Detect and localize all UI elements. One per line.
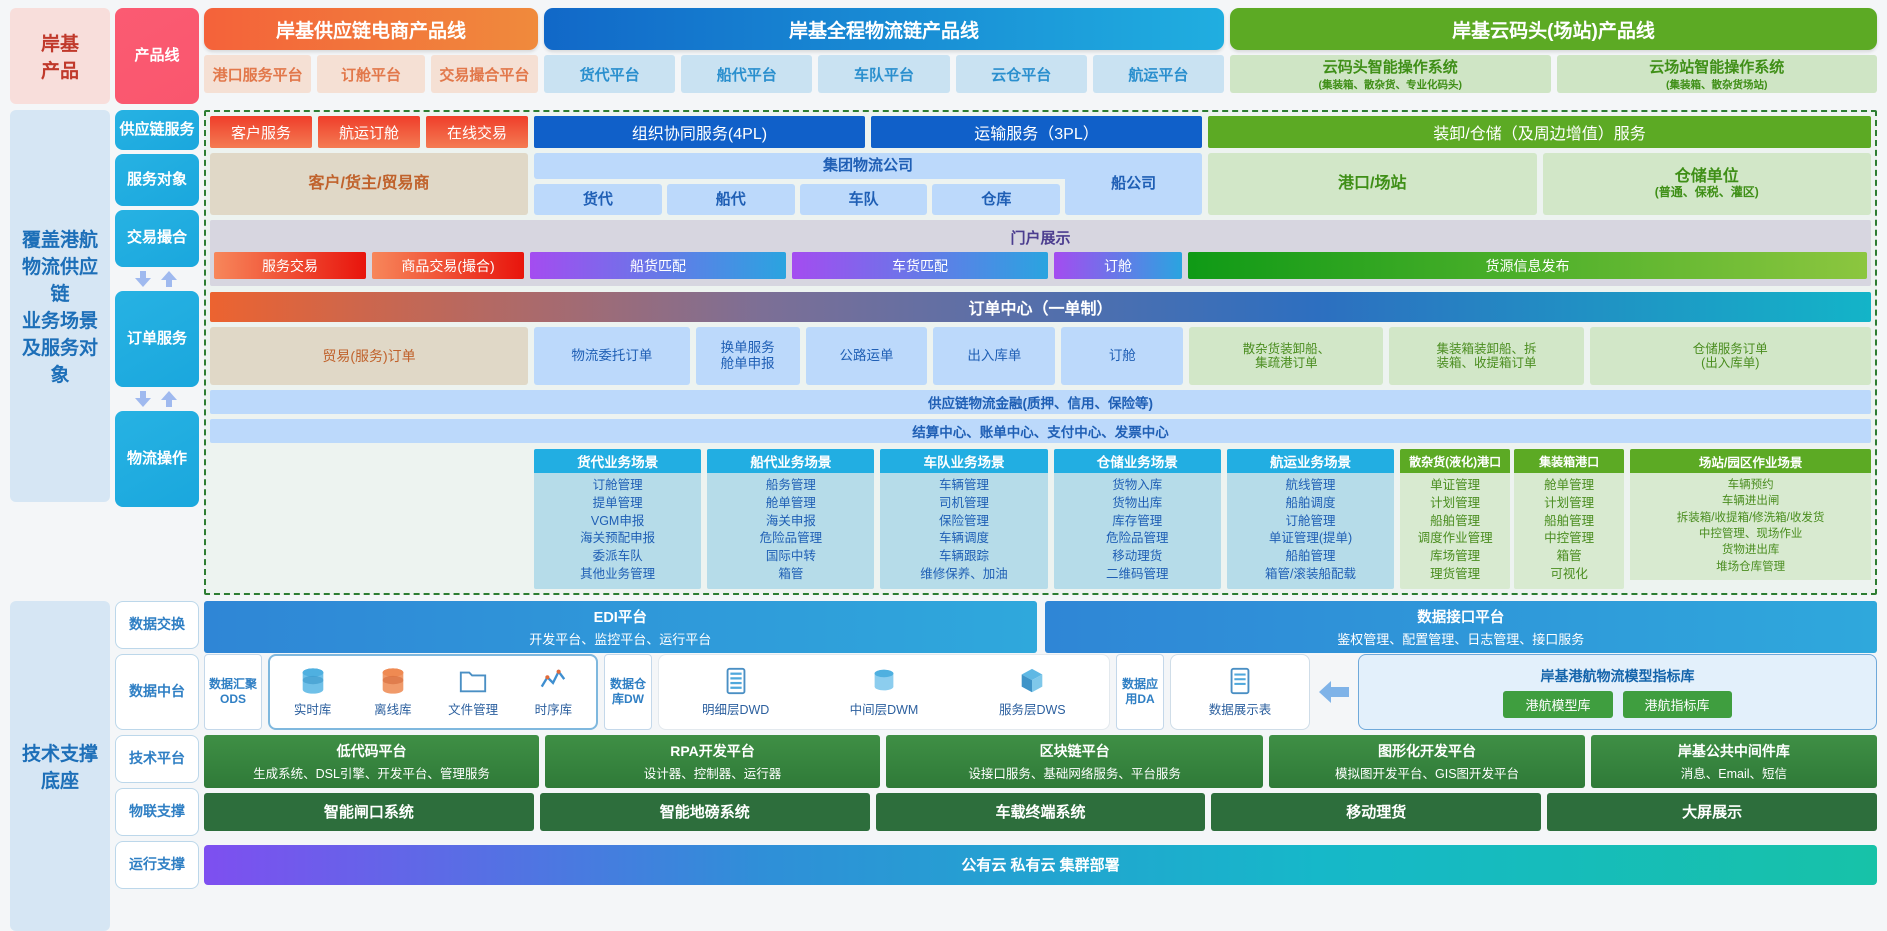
folder-icon: [458, 666, 488, 696]
ops-item[interactable]: 舱单管理: [709, 495, 872, 513]
timeseries-icon: [538, 666, 568, 696]
chip-service-object[interactable]: 服务对象: [115, 154, 199, 206]
order-item[interactable]: 仓储服务订单 (出入库单): [1590, 327, 1871, 385]
edi-sub: 开发平台、监控平台、运行平台: [210, 629, 1031, 648]
chip-order-service[interactable]: 订单服务: [115, 291, 199, 387]
updown-arrow-2: [115, 391, 199, 407]
order-item[interactable]: 物流委托订单: [534, 327, 690, 385]
ods-item-realtime[interactable]: 实时库: [274, 661, 351, 723]
dw-item-label: 服务层DWS: [999, 699, 1066, 718]
ops-item[interactable]: 维修保养、加油: [882, 566, 1045, 584]
layers-icon: [869, 666, 899, 696]
transaction-match-items: 服务交易 商品交易(撮合) 船货匹配 车货匹配 订舱 货源信息发布: [214, 252, 1867, 279]
ops-card-items: 单证管理 计划管理 船舶管理 调度作业管理 库场管理 理货管理: [1400, 473, 1510, 589]
ops-item[interactable]: 箱管: [709, 566, 872, 584]
model-item[interactable]: 港航指标库: [1623, 691, 1732, 718]
group-logistics-items: 货代 船代 车队 仓库 船公司: [534, 184, 1202, 215]
mega-label-tech-text: 技术支撑底座: [22, 739, 98, 793]
tech-platform-row: 低代码平台 生成系统、DSL引擎、开发平台、管理服务 RPA开发平台 设计器、控…: [204, 735, 1877, 783]
product-line-row: 岸基产品 产品线 岸基供应链电商产品线 港口服务平台 订舱平台 交易撮合平台 岸…: [10, 8, 1877, 104]
ops-item[interactable]: 提单管理: [536, 495, 699, 513]
product-line-ecommerce: 岸基供应链电商产品线 港口服务平台 订舱平台 交易撮合平台: [204, 8, 538, 104]
tm-item[interactable]: 车货匹配: [792, 252, 1048, 279]
edi-platform[interactable]: EDI平台 开发平台、监控平台、运行平台: [204, 601, 1037, 653]
scs-item[interactable]: 航运订舱: [318, 116, 420, 148]
order-green-group: 散杂货装卸船、 集疏港订单 集装箱装卸船、拆 装箱、收提箱订单 仓储服务订单 (…: [1189, 327, 1871, 385]
chip-data-middle[interactable]: 数据中台: [115, 654, 199, 730]
dip-title: 数据接口平台: [1051, 606, 1872, 627]
tech-title: 区块链平台: [890, 741, 1259, 761]
service-object-shipping-company[interactable]: 船公司: [1065, 153, 1202, 215]
order-center-title[interactable]: 订单中心（一单制）: [210, 292, 1871, 322]
sub-note: (集装箱、散杂货、专业化码头): [1319, 77, 1463, 92]
order-item[interactable]: 出入库单: [933, 327, 1055, 385]
ops-item[interactable]: 货物进出库: [1632, 542, 1869, 558]
chip-product-line[interactable]: 产品线: [115, 8, 199, 104]
tech-sub: 生成系统、DSL引擎、开发平台、管理服务: [208, 763, 535, 782]
ops-item[interactable]: 保险管理: [882, 513, 1045, 531]
tm-item[interactable]: 商品交易(撮合): [372, 252, 524, 279]
ops-card-title[interactable]: 集装箱港口: [1514, 449, 1624, 473]
ods-box: 实时库 离线库: [268, 654, 598, 730]
product-line-subs-1: 货代平台 船代平台 车队平台 云仓平台 航运平台: [544, 55, 1224, 93]
product-sub-item[interactable]: 船代平台: [681, 55, 812, 93]
ops-item[interactable]: 理货管理: [1402, 566, 1508, 584]
da-item-table[interactable]: 数据展示表: [1175, 666, 1305, 718]
ops-card-5: 散杂货(液化)港口 单证管理 计划管理 船舶管理 调度作业管理 库场管理 理货管…: [1400, 449, 1510, 589]
ods-item-label: 实时库: [294, 699, 332, 718]
ops-card-items: 舱单管理 计划管理 船舶管理 中控管理 箱管 可视化: [1514, 473, 1624, 589]
order-item-l2: 集疏港订单: [1255, 356, 1318, 370]
order-item-l2: 装箱、收提箱订单: [1436, 356, 1536, 370]
ops-item[interactable]: 计划管理: [1402, 495, 1508, 513]
iot-item[interactable]: 智能地磅系统: [540, 793, 870, 831]
order-item-l1: 散杂货装卸船、: [1243, 342, 1331, 356]
ops-item[interactable]: 船舶调度: [1229, 495, 1392, 513]
cubes-icon: [1017, 666, 1047, 696]
iot-item[interactable]: 移动理货: [1211, 793, 1541, 831]
iot-item[interactable]: 大屏展示: [1547, 793, 1877, 831]
ops-item[interactable]: 车辆调度: [882, 530, 1045, 548]
ods-item-file[interactable]: 文件管理: [435, 661, 512, 723]
updown-arrow-1: [115, 271, 199, 287]
order-center-block: 订单中心（一单制） 贸易(服务)订单 物流委托订单 换单服务 舱单申报 公路运单…: [210, 292, 1871, 443]
tech-sub: 设接口服务、基础网络服务、平台服务: [890, 763, 1259, 782]
ops-item[interactable]: 拆装箱/收提箱/修洗箱/收发货: [1632, 510, 1869, 526]
ops-item[interactable]: 司机管理: [882, 495, 1045, 513]
business-scenario-row: 覆盖港航物流供应链业务场景及服务对象 供应链服务 服务对象 交易撮合 订单服务: [10, 110, 1877, 595]
ops-item[interactable]: 危险品管理: [1056, 530, 1219, 548]
ops-card-6: 集装箱港口 舱单管理 计划管理 船舶管理 中控管理 箱管 可视化: [1514, 449, 1624, 589]
scs-item[interactable]: 组织协同服务(4PL): [534, 116, 865, 148]
model-item[interactable]: 港航模型库: [1503, 691, 1612, 718]
sub-note: (集装箱、散杂货场站): [1666, 77, 1768, 92]
ops-item[interactable]: 订舱管理: [1229, 513, 1392, 531]
dw-item-label: 明细层DWD: [702, 699, 769, 718]
tech-lowcode[interactable]: 低代码平台 生成系统、DSL引擎、开发平台、管理服务: [204, 735, 539, 788]
da-label: 数据应用DA: [1116, 654, 1164, 730]
tech-base-row: 技术支撑底座 数据交换 数据中台 技术平台 物联支撑 运行支撑 EDI平台 开发…: [10, 601, 1877, 931]
order-item-l2: 舱单申报: [721, 356, 775, 372]
ods-item-label: 离线库: [374, 699, 412, 718]
iot-item[interactable]: 智能闸口系统: [204, 793, 534, 831]
tm-item[interactable]: 服务交易: [214, 252, 366, 279]
ops-cards: 货代业务场景 订舱管理 提单管理 VGM申报 海关预配申报 委派车队 其他业务管…: [534, 449, 1871, 589]
product-sub-item[interactable]: 云码头智能操作系统 (集装箱、散杂货、专业化码头): [1230, 55, 1551, 93]
tm-item[interactable]: 船货匹配: [530, 252, 786, 279]
ops-item[interactable]: 堆场仓库管理: [1632, 559, 1869, 575]
ops-item[interactable]: 其他业务管理: [536, 566, 699, 584]
chip-data-exchange[interactable]: 数据交换: [115, 601, 199, 649]
tech-rpa[interactable]: RPA开发平台 设计器、控制器、运行器: [545, 735, 880, 788]
ops-item[interactable]: 海关申报: [709, 513, 872, 531]
service-object-group: 集团物流公司 货代 船代 车队 仓库 船公司: [534, 153, 1202, 215]
ops-item[interactable]: 中控管理: [1516, 530, 1622, 548]
dw-box: 明细层DWD 中间层DWM: [658, 654, 1110, 730]
database-icon: [378, 666, 408, 696]
ops-item[interactable]: 移动理货: [1056, 548, 1219, 566]
ops-card-items: 车辆管理 司机管理 保险管理 车辆调度 车辆跟踪 维修保养、加油: [880, 473, 1047, 589]
product-sub-item[interactable]: 货代平台: [544, 55, 675, 93]
order-item[interactable]: 订舱: [1061, 327, 1183, 385]
scs-item[interactable]: 客户服务: [210, 116, 312, 148]
ops-card-title[interactable]: 散杂货(液化)港口: [1400, 449, 1510, 473]
scs-ecommerce: 客户服务 航运订舱 在线交易: [210, 116, 528, 148]
ops-item[interactable]: 国际中转: [709, 548, 872, 566]
ops-item[interactable]: VGM申报: [536, 513, 699, 531]
supply-chain-services-row: 客户服务 航运订舱 在线交易 组织协同服务(4PL) 运输服务（3PL） 装卸/…: [210, 116, 1871, 148]
chip-logistics-ops[interactable]: 物流操作: [115, 411, 199, 507]
product-line-title-1[interactable]: 岸基全程物流链产品线: [544, 8, 1224, 50]
tech-sub: 模拟图开发平台、GIS图开发平台: [1273, 763, 1581, 782]
tech-blockchain[interactable]: 区块链平台 设接口服务、基础网络服务、平台服务: [886, 735, 1263, 788]
iot-support-row: 智能闸口系统 智能地磅系统 车载终端系统 移动理货 大屏展示: [204, 788, 1877, 836]
ops-item[interactable]: 危险品管理: [709, 530, 872, 548]
tech-sub: 设计器、控制器、运行器: [549, 763, 876, 782]
dw-item-label: 中间层DWM: [850, 699, 919, 718]
ops-card-3: 仓储业务场景 货物入库 货物出库 库存管理 危险品管理 移动理货 二维码管理: [1054, 449, 1221, 589]
tech-sub: 消息、Email、短信: [1595, 763, 1873, 782]
ops-item[interactable]: 航线管理: [1229, 477, 1392, 495]
row-chip-column: 供应链服务 服务对象 交易撮合 订单服务 物流操作: [115, 110, 199, 595]
service-object-customer[interactable]: 客户/货主/贸易商: [210, 153, 528, 215]
ops-item[interactable]: 可视化: [1516, 566, 1622, 584]
ops-item[interactable]: 库存管理: [1056, 513, 1219, 531]
business-dashed-container: 客户服务 航运订舱 在线交易 组织协同服务(4PL) 运输服务（3PL） 装卸/…: [204, 110, 1877, 595]
product-sub-item[interactable]: 港口服务平台: [204, 55, 311, 93]
ops-card-1: 船代业务场景 船务管理 舱单管理 海关申报 危险品管理 国际中转 箱管: [707, 449, 874, 589]
order-blue-group: 物流委托订单 换单服务 舱单申报 公路运单 出入库单 订舱: [534, 327, 1183, 385]
edi-title: EDI平台: [210, 606, 1031, 627]
database-icon: [298, 666, 328, 696]
da-box[interactable]: 数据展示表: [1170, 654, 1310, 730]
group-item[interactable]: 船代: [667, 184, 795, 215]
ods-item-label: 时序库: [535, 699, 573, 718]
order-center-cells: 贸易(服务)订单 物流委托订单 换单服务 舱单申报 公路运单 出入库单 订舱: [210, 327, 1871, 385]
ops-card-7: 场站/园区作业场景 车辆预约 车辆进出闸 拆装箱/收提箱/修洗箱/收发货 中控管…: [1630, 449, 1871, 589]
ods-item-offline[interactable]: 离线库: [354, 661, 431, 723]
list-icon: [1225, 666, 1255, 696]
ops-item[interactable]: 船舶管理: [1229, 548, 1392, 566]
sub-title: 云码头智能操作系统: [1323, 56, 1458, 77]
ops-card-items: 车辆预约 车辆进出闸 拆装箱/收提箱/修洗箱/收发货 中控管理、现场作业 货物进…: [1630, 473, 1871, 580]
product-line-subs-0: 港口服务平台 订舱平台 交易撮合平台: [204, 55, 538, 93]
ops-item[interactable]: 车辆管理: [882, 477, 1045, 495]
ods-label: 数据汇聚ODS: [204, 654, 262, 730]
ops-card-title[interactable]: 车队业务场景: [880, 449, 1047, 473]
product-sub-item[interactable]: 交易撮合平台: [431, 55, 538, 93]
settle-bar[interactable]: 结算中心、账单中心、支付中心、发票中心: [210, 419, 1871, 443]
scs-item[interactable]: 在线交易: [426, 116, 528, 148]
tech-title: 图形化开发平台: [1273, 741, 1581, 761]
ops-item[interactable]: 海关预配申报: [536, 530, 699, 548]
order-item[interactable]: 公路运单: [806, 327, 928, 385]
ops-item[interactable]: 车辆预约: [1632, 477, 1869, 493]
ops-card-0: 货代业务场景 订舱管理 提单管理 VGM申报 海关预配申报 委派车队 其他业务管…: [534, 449, 701, 589]
iot-item[interactable]: 车载终端系统: [876, 793, 1206, 831]
dw-item-dwd[interactable]: 明细层DWD: [663, 660, 808, 724]
ops-item[interactable]: 二维码管理: [1056, 566, 1219, 584]
mega-label-business: 覆盖港航物流供应链业务场景及服务对象: [10, 110, 110, 502]
ops-card-2: 车队业务场景 车辆管理 司机管理 保险管理 车辆调度 车辆跟踪 维修保养、加油: [880, 449, 1047, 589]
ods-item-label: 文件管理: [448, 699, 498, 718]
tm-item[interactable]: 货源信息发布: [1188, 252, 1867, 279]
tech-graphics[interactable]: 图形化开发平台 模拟图开发平台、GIS图开发平台: [1269, 735, 1585, 788]
product-sub-item[interactable]: 云仓平台: [956, 55, 1087, 93]
ops-card-items: 货物入库 货物出库 库存管理 危险品管理 移动理货 二维码管理: [1054, 473, 1221, 589]
arrow-up-down-icon: [129, 271, 185, 287]
mega-label-business-text: 覆盖港航物流供应链业务场景及服务对象: [22, 225, 98, 387]
product-sub-item[interactable]: 车队平台: [818, 55, 949, 93]
group-item[interactable]: 货代: [534, 184, 662, 215]
tech-title: 岸基公共中间件库: [1595, 741, 1873, 761]
mega-label-product: 岸基产品: [10, 8, 110, 104]
ops-item[interactable]: 委派车队: [536, 548, 699, 566]
ops-card-items: 船务管理 舱单管理 海关申报 危险品管理 国际中转 箱管: [707, 473, 874, 589]
scs-item[interactable]: 装卸/仓储（及周边增值）服务: [1208, 116, 1871, 148]
service-object-warehouse[interactable]: 仓储单位 (普通、保税、灌区): [1543, 153, 1872, 215]
order-item[interactable]: 散杂货装卸船、 集疏港订单: [1189, 327, 1383, 385]
tech-title: RPA开发平台: [549, 741, 876, 761]
ops-item[interactable]: 舱单管理: [1516, 477, 1622, 495]
terminal-objects: 港口/场站 仓储单位 (普通、保税、灌区): [1208, 153, 1871, 215]
chip-iot-support[interactable]: 物联支撑: [115, 788, 199, 836]
ops-item[interactable]: 单证管理: [1402, 477, 1508, 495]
service-object-port[interactable]: 港口/场站: [1208, 153, 1537, 215]
tech-title: 低代码平台: [208, 741, 535, 761]
order-item-l1: 集装箱装卸船、拆: [1436, 342, 1536, 356]
order-trade[interactable]: 贸易(服务)订单: [210, 327, 528, 385]
ops-card-items: 航线管理 船舶调度 订舱管理 单证管理(提单) 船舶管理 箱管/滚装船配载: [1227, 473, 1394, 589]
ops-item[interactable]: 货物出库: [1056, 495, 1219, 513]
ops-item[interactable]: 车辆进出闸: [1632, 493, 1869, 509]
architecture-diagram: 岸基产品 产品线 岸基供应链电商产品线 港口服务平台 订舱平台 交易撮合平台 岸…: [0, 0, 1887, 912]
model-library-items: 港航模型库 港航指标库: [1503, 691, 1731, 718]
order-item-l2: (出入库单): [1701, 356, 1759, 370]
ops-spacer: [210, 449, 528, 589]
product-line-banners: 岸基供应链电商产品线 港口服务平台 订舱平台 交易撮合平台 岸基全程物流链产品线…: [204, 8, 1877, 104]
ops-item[interactable]: 货物入库: [1056, 477, 1219, 495]
warehouse-note: (普通、保税、灌区): [1655, 186, 1759, 200]
data-middle-platform-row: 数据汇聚ODS 实时库: [204, 654, 1877, 730]
ops-item[interactable]: 订舱管理: [536, 477, 699, 495]
order-item-l1: 仓储服务订单: [1693, 342, 1768, 356]
product-sub-item[interactable]: 航运平台: [1093, 55, 1224, 93]
ops-card-title[interactable]: 仓储业务场景: [1054, 449, 1221, 473]
arrow-left-icon: [1317, 678, 1351, 706]
group-item[interactable]: 仓库: [932, 184, 1060, 215]
product-line-title-0[interactable]: 岸基供应链电商产品线: [204, 8, 538, 50]
finance-bar[interactable]: 供应链物流金融(质押、信用、保险等): [210, 390, 1871, 414]
model-library-title: 岸基港航物流模型指标库: [1541, 666, 1695, 686]
ods-item-timeseries[interactable]: 时序库: [515, 661, 592, 723]
order-item[interactable]: 换单服务 舱单申报: [696, 327, 800, 385]
data-exchange-row: EDI平台 开发平台、监控平台、运行平台 数据接口平台 鉴权管理、配置管理、日志…: [204, 601, 1877, 649]
ops-item[interactable]: 船务管理: [709, 477, 872, 495]
scs-terminal: 装卸/仓储（及周边增值）服务: [1208, 116, 1871, 148]
group-item[interactable]: 车队: [800, 184, 928, 215]
product-line-subs-2: 云码头智能操作系统 (集装箱、散杂货、专业化码头) 云场站智能操作系统 (集装箱…: [1230, 55, 1877, 93]
warehouse-title: 仓储单位: [1675, 168, 1739, 186]
ops-card-items: 订舱管理 提单管理 VGM申报 海关预配申报 委派车队 其他业务管理: [534, 473, 701, 589]
order-item[interactable]: 集装箱装卸船、拆 装箱、收提箱订单: [1389, 327, 1583, 385]
da-item-label: 数据展示表: [1209, 699, 1272, 718]
order-item-l1: 换单服务: [721, 340, 775, 356]
chip-transaction-match[interactable]: 交易撮合: [115, 210, 199, 267]
order-right: 物流委托订单 换单服务 舱单申报 公路运单 出入库单 订舱 散杂货装卸船、: [534, 327, 1871, 385]
tech-chip-column: 数据交换 数据中台 技术平台 物联支撑 运行支撑: [115, 601, 199, 931]
ops-item[interactable]: 中控管理、现场作业: [1632, 526, 1869, 542]
sub-title: 云场站智能操作系统: [1649, 56, 1784, 77]
mega-label-tech: 技术支撑底座: [10, 601, 110, 931]
chip-supply-chain-service[interactable]: 供应链服务: [115, 110, 199, 150]
scs-logistics: 组织协同服务(4PL) 运输服务（3PL）: [534, 116, 1202, 148]
model-library-box: 岸基港航物流模型指标库 港航模型库 港航指标库: [1358, 654, 1877, 730]
dw-label: 数据仓库DW: [604, 654, 652, 730]
dw-item-dwm[interactable]: 中间层DWM: [811, 660, 956, 724]
product-line-logistics: 岸基全程物流链产品线 货代平台 船代平台 车队平台 云仓平台 航运平台: [544, 8, 1224, 104]
ops-item[interactable]: 车辆跟踪: [882, 548, 1045, 566]
arrow-up-down-icon: [129, 391, 185, 407]
layers-icon: [721, 666, 751, 696]
service-objects-row: 客户/货主/贸易商 集团物流公司 货代 船代 车队 仓库 船公司 港口/场站 仓…: [210, 153, 1871, 215]
ops-card-title[interactable]: 货代业务场景: [534, 449, 701, 473]
chip-runtime-support[interactable]: 运行支撑: [115, 841, 199, 889]
ops-item[interactable]: 计划管理: [1516, 495, 1622, 513]
ops-item[interactable]: 库场管理: [1402, 548, 1508, 566]
tech-content-column: EDI平台 开发平台、监控平台、运行平台 数据接口平台 鉴权管理、配置管理、日志…: [204, 601, 1877, 931]
tech-middleware[interactable]: 岸基公共中间件库 消息、Email、短信: [1591, 735, 1877, 788]
runtime-support-row: 公有云 私有云 集群部署: [204, 841, 1877, 889]
dip-sub: 鉴权管理、配置管理、日志管理、接口服务: [1051, 629, 1872, 648]
mega-label-product-text: 岸基产品: [41, 29, 79, 83]
transaction-match-row: 门户展示 服务交易 商品交易(撮合) 船货匹配 车货匹配 订舱 货源信息发布: [210, 220, 1871, 286]
data-interface-platform[interactable]: 数据接口平台 鉴权管理、配置管理、日志管理、接口服务: [1045, 601, 1878, 653]
product-sub-item[interactable]: 云场站智能操作系统 (集装箱、散杂货场站): [1557, 55, 1878, 93]
ops-card-title[interactable]: 船代业务场景: [707, 449, 874, 473]
product-sub-item[interactable]: 订舱平台: [317, 55, 424, 93]
ops-card-4: 航运业务场景 航线管理 船舶调度 订舱管理 单证管理(提单) 船舶管理 箱管/滚…: [1227, 449, 1394, 589]
ops-card-title[interactable]: 航运业务场景: [1227, 449, 1394, 473]
ops-item[interactable]: 船舶管理: [1516, 513, 1622, 531]
ops-item[interactable]: 船舶管理: [1402, 513, 1508, 531]
ops-item[interactable]: 箱管/滚装船配载: [1229, 566, 1392, 584]
scs-item[interactable]: 运输服务（3PL）: [871, 116, 1202, 148]
product-line-title-2[interactable]: 岸基云码头(场站)产品线: [1230, 8, 1877, 50]
ops-card-green-pair: 散杂货(液化)港口 单证管理 计划管理 船舶管理 调度作业管理 库场管理 理货管…: [1400, 449, 1624, 589]
portal-title: 门户展示: [214, 227, 1867, 248]
chip-tech-platform[interactable]: 技术平台: [115, 735, 199, 783]
product-line-terminal: 岸基云码头(场站)产品线 云码头智能操作系统 (集装箱、散杂货、专业化码头) 云…: [1230, 8, 1877, 104]
da-and-model: 数据展示表 岸基港航物流模型指标库 港航模型库 港航指标库: [1170, 654, 1877, 730]
flow-arrow: [1316, 654, 1352, 730]
dw-item-dws[interactable]: 服务层DWS: [960, 660, 1105, 724]
tm-item[interactable]: 订舱: [1054, 252, 1182, 279]
ops-item[interactable]: 箱管: [1516, 548, 1622, 566]
ops-card-title[interactable]: 场站/园区作业场景: [1630, 449, 1871, 473]
cloud-deployment-bar[interactable]: 公有云 私有云 集群部署: [204, 845, 1877, 885]
logistics-ops-block: 货代业务场景 订舱管理 提单管理 VGM申报 海关预配申报 委派车队 其他业务管…: [210, 449, 1871, 589]
ops-item[interactable]: 调度作业管理: [1402, 530, 1508, 548]
ops-item[interactable]: 单证管理(提单): [1229, 530, 1392, 548]
